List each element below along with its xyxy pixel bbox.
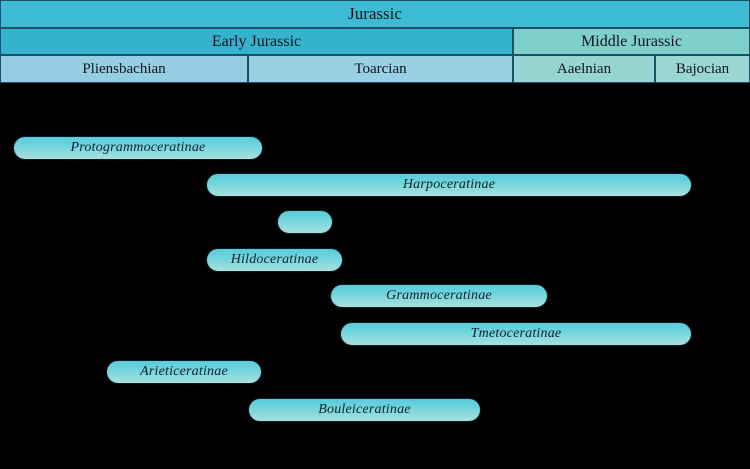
stratigraphic-range-chart: Jurassic Early JurassicMiddle Jurassic P… bbox=[0, 0, 750, 469]
range-bar-label: Hildoceratinae bbox=[231, 252, 319, 268]
range-bars-area: ProtogrammoceratinaeHarpoceratinaeHildoc… bbox=[0, 0, 750, 469]
range-bar-label: Tmetoceratinae bbox=[471, 326, 562, 342]
range-bar-arieticeratinae[interactable]: Arieticeratinae bbox=[106, 360, 262, 384]
range-bar-harpoceratinae[interactable]: Harpoceratinae bbox=[206, 173, 692, 197]
range-bar-grammoceratinae[interactable]: Grammoceratinae bbox=[330, 284, 548, 308]
range-bar-protogrammoceratinae[interactable]: Protogrammoceratinae bbox=[13, 136, 263, 160]
range-bar-unlabeled-2[interactable] bbox=[277, 210, 333, 234]
range-bar-tmetoceratinae[interactable]: Tmetoceratinae bbox=[340, 322, 692, 346]
range-bar-label: Bouleiceratinae bbox=[318, 402, 410, 418]
range-bar-label: Harpoceratinae bbox=[403, 177, 495, 193]
range-bar-label: Protogrammoceratinae bbox=[71, 140, 206, 156]
range-bar-bouleiceratinae[interactable]: Bouleiceratinae bbox=[248, 398, 481, 422]
range-bar-label: Arieticeratinae bbox=[140, 364, 228, 380]
range-bar-label: Grammoceratinae bbox=[386, 288, 492, 304]
range-bar-hildoceratinae[interactable]: Hildoceratinae bbox=[206, 248, 343, 272]
